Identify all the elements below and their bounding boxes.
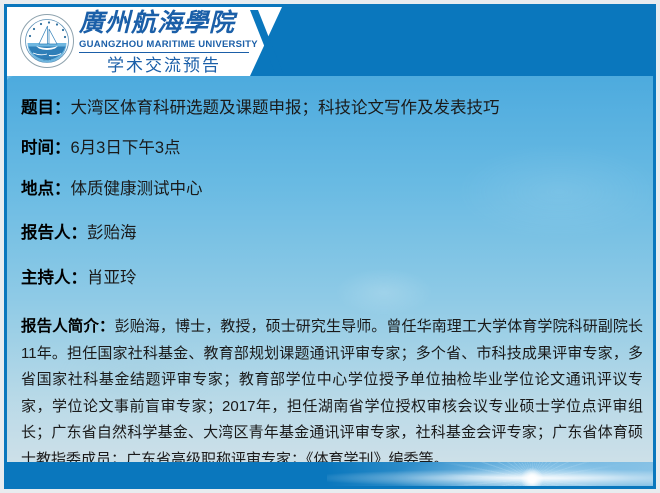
svg-text:1964: 1964: [43, 58, 51, 62]
biography-text: 彭贻海，博士，教授，硕士研究生导师。曾任华南理工大学体育学院科研副院长11年。担…: [21, 318, 643, 462]
speaker-biography: 报告人简介：彭贻海，博士，教授，硕士研究生导师。曾任华南理工大学体育学院科研副院…: [21, 314, 643, 462]
biography-label: 报告人简介：: [21, 318, 115, 335]
place-value: 体质健康测试中心: [71, 180, 203, 198]
time-value: 6月3日下午3点: [71, 139, 181, 157]
university-name-cn: 廣州航海學院: [79, 9, 249, 39]
title-value: 大湾区体育科研选题及课题申报；科技论文写作及发表技巧: [71, 99, 500, 117]
title-label: 题目：: [21, 99, 71, 117]
host-label: 主持人：: [21, 269, 87, 287]
place-label: 地点：: [21, 180, 71, 198]
announcement-content: 题目：大湾区体育科研选题及课题申报；科技论文写作及发表技巧 时间：6月3日下午3…: [7, 76, 657, 462]
header-blue-block: [250, 7, 657, 76]
time-label: 时间：: [21, 139, 71, 157]
detail-row-speaker: 报告人：彭贻海: [21, 210, 643, 256]
detail-row-place: 地点：体质健康测试中心: [21, 168, 643, 210]
poster-footer: [7, 462, 657, 493]
poster-header: 1964 廣州航海學院 GUANGZHOU MARITIME UNIVERSIT…: [7, 7, 657, 76]
poster-body: 题目：大湾区体育科研选题及课题申报；科技论文写作及发表技巧 时间：6月3日下午3…: [7, 76, 657, 462]
university-name-en: GUANGZHOU MARITIME UNIVERSITY: [79, 39, 249, 53]
poster-subtitle: 学术交流预告: [79, 55, 249, 76]
host-value: 肖亚玲: [87, 269, 137, 287]
sailboat-seal-logo: 1964: [19, 13, 75, 69]
detail-row-time: 时间：6月3日下午3点: [21, 128, 643, 168]
announcement-poster: 1964 廣州航海學院 GUANGZHOU MARITIME UNIVERSIT…: [0, 0, 660, 493]
sunburst-flare-icon: [327, 462, 657, 493]
speaker-value: 彭贻海: [87, 224, 137, 242]
detail-row-title: 题目：大湾区体育科研选题及课题申报；科技论文写作及发表技巧: [21, 88, 643, 128]
header-title-group: 廣州航海學院 GUANGZHOU MARITIME UNIVERSITY 学术交…: [79, 9, 249, 76]
speaker-label: 报告人：: [21, 224, 87, 242]
detail-row-host: 主持人：肖亚玲: [21, 256, 643, 300]
